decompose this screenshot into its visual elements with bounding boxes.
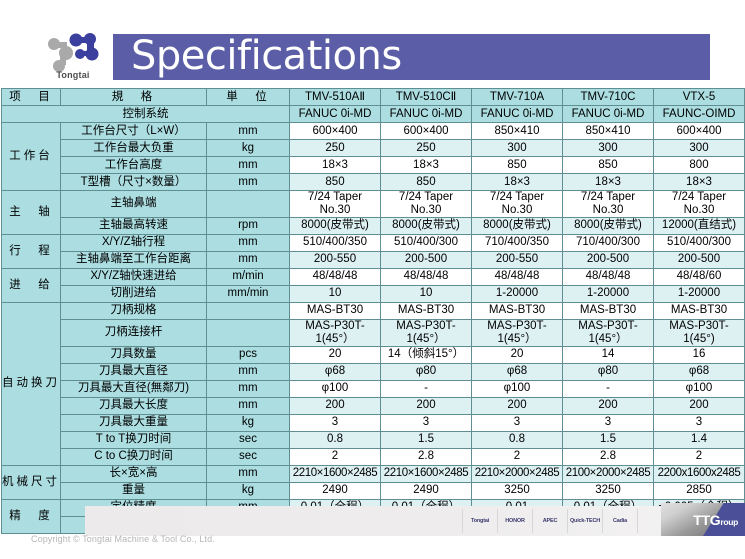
- specifications-table: 项 目規 格単 位TMV-510AⅡTMV-510CⅡTMV-710ATMV-7…: [1, 88, 745, 534]
- data-cell: 3250: [563, 482, 654, 499]
- data-cell: 200: [290, 397, 381, 414]
- row-unit: m/min: [207, 268, 290, 285]
- data-cell: 0.8: [472, 431, 563, 448]
- row-unit: kg: [207, 414, 290, 431]
- data-cell: 1-20000: [654, 285, 745, 302]
- table-row: 切削进给mm/min10101-200001-200001-20000: [2, 285, 745, 302]
- data-cell: MAS-P30T-1(45°）: [563, 319, 654, 346]
- data-cell: 1.4: [654, 431, 745, 448]
- data-cell: 8000(皮带式): [563, 217, 654, 234]
- control-system-value: FANUC 0i-MD: [290, 106, 381, 123]
- data-cell: 14: [563, 346, 654, 363]
- row-item-label: 刀具最大直径: [61, 363, 207, 380]
- data-cell: 300: [654, 140, 745, 157]
- data-cell: 2210×1600×2485: [381, 465, 472, 482]
- title-banner: Specifications: [113, 34, 710, 80]
- table-row: 行 程X/Y/Z轴行程mm510/400/350510/400/300710/4…: [2, 234, 745, 251]
- table-row: 主轴最高转速rpm8000(皮带式)8000(皮带式)8000(皮带式)8000…: [2, 217, 745, 234]
- header-cell-unit: 単 位: [207, 89, 290, 106]
- brand-logo-strip: TongtaiHONORAPECQuick-TECHCadia: [462, 509, 638, 533]
- footer-bar: [85, 506, 745, 536]
- data-cell: 20: [290, 346, 381, 363]
- control-system-row: 控制系统FANUC 0i-MDFANUC 0i-MDFANUC 0i-MDFAN…: [2, 106, 745, 123]
- table-row: 工作台最大负重kg250250300300300: [2, 140, 745, 157]
- data-cell: 600×400: [290, 123, 381, 140]
- data-cell: MAS-BT30: [472, 302, 563, 319]
- table-row: 刀具最大重量kg33333: [2, 414, 745, 431]
- data-cell: 850: [563, 157, 654, 174]
- row-unit: [207, 319, 290, 346]
- data-cell: 2850: [654, 482, 745, 499]
- row-item-label: 重量: [61, 482, 207, 499]
- row-unit: kg: [207, 140, 290, 157]
- brand-logo-honor: HONOR: [498, 509, 533, 533]
- data-cell: 20: [472, 346, 563, 363]
- data-cell: MAS-P30T-1(45°）: [381, 319, 472, 346]
- brand-logo-text: HONOR: [505, 518, 524, 524]
- brand-logo-quicktech: Quick-TECH: [568, 509, 603, 533]
- data-cell: 510/400/300: [381, 234, 472, 251]
- header-cell-model: TMV-710C: [563, 89, 654, 106]
- row-item-label: 刀具最大直径(無鄰刀): [61, 380, 207, 397]
- data-cell: 2490: [381, 482, 472, 499]
- data-cell: 250: [381, 140, 472, 157]
- row-unit: sec: [207, 448, 290, 465]
- data-cell: 200: [654, 397, 745, 414]
- data-cell: φ100: [472, 380, 563, 397]
- row-item-label: 刀具数量: [61, 346, 207, 363]
- data-cell: 300: [563, 140, 654, 157]
- data-cell: 8000(皮带式): [381, 217, 472, 234]
- brand-logo-text: Cadia: [613, 518, 627, 524]
- ttgroup-main: TTG: [693, 512, 720, 528]
- data-cell: 1.5: [563, 431, 654, 448]
- data-cell: 850: [381, 174, 472, 191]
- brand-logo-apec: APEC: [533, 509, 568, 533]
- ttgroup-label: TTGroup: [693, 512, 738, 528]
- table-row: 工作台高度mm18×318×3850850800: [2, 157, 745, 174]
- data-cell: MAS-P30T-1(45°）: [290, 319, 381, 346]
- tongtai-logo: Tongtai: [36, 30, 110, 86]
- table-row: 机械尺寸长×宽×高mm2210×1600×24852210×1600×24852…: [2, 465, 745, 482]
- data-cell: 7/24 TaperNo.30: [563, 191, 654, 218]
- data-cell: 18×3: [290, 157, 381, 174]
- header-cell-model: TMV-510AⅡ: [290, 89, 381, 106]
- data-cell: 2: [654, 448, 745, 465]
- data-cell: φ100: [654, 380, 745, 397]
- control-system-value: FANUC 0i-MD: [472, 106, 563, 123]
- data-cell: φ68: [654, 363, 745, 380]
- tongtai-molecule-icon: [36, 30, 110, 74]
- control-system-label: 控制系统: [2, 106, 290, 123]
- data-cell: 2: [472, 448, 563, 465]
- data-cell: 7/24 TaperNo.30: [381, 191, 472, 218]
- data-cell: MAS-BT30: [654, 302, 745, 319]
- data-cell: 850×410: [563, 123, 654, 140]
- data-cell: 2.8: [381, 448, 472, 465]
- data-cell: 3: [654, 414, 745, 431]
- table-row: 进 给X/Y/Z轴快速进给m/min48/48/4848/48/4848/48/…: [2, 268, 745, 285]
- row-unit: sec: [207, 431, 290, 448]
- row-item-label: 刀柄连接杆: [61, 319, 207, 346]
- brand-logo-text: Quick-TECH: [570, 518, 600, 524]
- data-cell: 710/400/350: [472, 234, 563, 251]
- data-cell: 1-20000: [472, 285, 563, 302]
- row-item-label: 工作台尺寸（L×W）: [61, 123, 207, 140]
- data-cell: 200-550: [290, 251, 381, 268]
- table-row: 自动换刀刀柄规格MAS-BT30MAS-BT30MAS-BT30MAS-BT30…: [2, 302, 745, 319]
- brand-logo-tongtai: Tongtai: [462, 509, 498, 533]
- data-cell: 2210×1600×2485: [290, 465, 381, 482]
- data-cell: 2490: [290, 482, 381, 499]
- row-unit: mm: [207, 363, 290, 380]
- row-item-label: 主轴鼻端至工作台距离: [61, 251, 207, 268]
- data-cell: 850: [290, 174, 381, 191]
- header-cell-spec: 規 格: [61, 89, 207, 106]
- data-cell: 16: [654, 346, 745, 363]
- row-item-label: 主轴鼻端: [61, 191, 207, 218]
- data-cell: 250: [290, 140, 381, 157]
- row-item-label: 工作台最大负重: [61, 140, 207, 157]
- data-cell: 200: [563, 397, 654, 414]
- data-cell: 2.8: [563, 448, 654, 465]
- group-label: 主 轴: [2, 191, 61, 235]
- data-cell: 2100×2000×2485: [563, 465, 654, 482]
- data-cell: 200-500: [654, 251, 745, 268]
- data-cell: 48/48/48: [290, 268, 381, 285]
- header-cell-model: TMV-510CⅡ: [381, 89, 472, 106]
- data-cell: 10: [290, 285, 381, 302]
- ttgroup-suffix: roup: [720, 517, 738, 527]
- data-cell: 510/400/350: [290, 234, 381, 251]
- table-row: 主 轴主轴鼻端7/24 TaperNo.307/24 TaperNo.307/2…: [2, 191, 745, 218]
- data-cell: -: [381, 380, 472, 397]
- data-cell: 0.8: [290, 431, 381, 448]
- data-cell: 2210×2000×2485: [472, 465, 563, 482]
- data-cell: 1-20000: [563, 285, 654, 302]
- group-label: 行 程: [2, 234, 61, 268]
- data-cell: 7/24 TaperNo.30: [472, 191, 563, 218]
- data-cell: 850×410: [472, 123, 563, 140]
- data-cell: 800: [654, 157, 745, 174]
- row-unit: mm: [207, 397, 290, 414]
- row-unit: mm: [207, 234, 290, 251]
- group-label: 机械尺寸: [2, 465, 61, 499]
- table-row: T to T换刀时间sec0.81.50.81.51.4: [2, 431, 745, 448]
- row-item-label: X/Y/Z轴快速进给: [61, 268, 207, 285]
- data-cell: 200: [472, 397, 563, 414]
- data-cell: 510/400/300: [654, 234, 745, 251]
- group-label: 自动换刀: [2, 302, 61, 465]
- page-title: Specifications: [131, 33, 402, 79]
- data-cell: 8000(皮带式): [472, 217, 563, 234]
- row-item-label: 切削进给: [61, 285, 207, 302]
- data-cell: 850: [472, 157, 563, 174]
- table-body: 项 目規 格単 位TMV-510AⅡTMV-510CⅡTMV-710ATMV-7…: [2, 89, 745, 534]
- data-cell: 2200x1600x2485: [654, 465, 745, 482]
- data-cell: MAS-P30T-1(45°）: [472, 319, 563, 346]
- data-cell: 200-500: [381, 251, 472, 268]
- data-cell: MAS-P30T-1(45°): [654, 319, 745, 346]
- data-cell: 18×3: [472, 174, 563, 191]
- row-item-label: 主轴最高转速: [61, 217, 207, 234]
- data-cell: MAS-BT30: [290, 302, 381, 319]
- brand-logo-text: Tongtai: [471, 518, 489, 524]
- row-item-label: 刀具最大长度: [61, 397, 207, 414]
- table-row: 主轴鼻端至工作台距离mm200-550200-500200-550200-500…: [2, 251, 745, 268]
- data-cell: 3: [472, 414, 563, 431]
- data-cell: 18×3: [654, 174, 745, 191]
- data-cell: 48/48/48: [381, 268, 472, 285]
- group-label: 进 给: [2, 268, 61, 302]
- data-cell: φ80: [381, 363, 472, 380]
- row-unit: [207, 302, 290, 319]
- row-unit: pcs: [207, 346, 290, 363]
- copyright-text: Copyright © Tongtai Machine & Tool Co., …: [31, 534, 215, 544]
- row-unit: rpm: [207, 217, 290, 234]
- data-cell: 3: [381, 414, 472, 431]
- table-row: 刀柄连接杆MAS-P30T-1(45°）MAS-P30T-1(45°）MAS-P…: [2, 319, 745, 346]
- table-row: 刀具最大直径mmφ68φ80φ68φ80φ68: [2, 363, 745, 380]
- data-cell: φ80: [563, 363, 654, 380]
- table-row: 刀具最大直径(無鄰刀)mmφ100-φ100-φ100: [2, 380, 745, 397]
- row-item-label: 长×宽×高: [61, 465, 207, 482]
- data-cell: φ68: [290, 363, 381, 380]
- data-cell: 300: [472, 140, 563, 157]
- table-row: T型槽（尺寸×数量）mm85085018×318×318×3: [2, 174, 745, 191]
- data-cell: 18×3: [563, 174, 654, 191]
- ttgroup-logo: TTGroup: [661, 503, 745, 536]
- row-item-label: 工作台高度: [61, 157, 207, 174]
- row-unit: [207, 191, 290, 218]
- row-unit: mm: [207, 174, 290, 191]
- data-cell: 48/48/48: [472, 268, 563, 285]
- data-cell: 3: [290, 414, 381, 431]
- table-row: C to C换刀时间sec22.822.82: [2, 448, 745, 465]
- data-cell: 18×3: [381, 157, 472, 174]
- brand-logo-text: APEC: [543, 518, 557, 524]
- group-label: 工作台: [2, 123, 61, 191]
- control-system-value: FANUC 0i-MD: [381, 106, 472, 123]
- data-cell: 3250: [472, 482, 563, 499]
- header-cell-model: TMV-710A: [472, 89, 563, 106]
- data-cell: 8000(皮带式): [290, 217, 381, 234]
- row-unit: mm: [207, 380, 290, 397]
- data-cell: 14（倾斜15°）: [381, 346, 472, 363]
- tongtai-logo-text: Tongtai: [36, 70, 110, 80]
- data-cell: MAS-BT30: [563, 302, 654, 319]
- header-cell-item: 项 目: [2, 89, 61, 106]
- row-item-label: 刀具最大重量: [61, 414, 207, 431]
- data-cell: 3: [563, 414, 654, 431]
- data-cell: φ68: [472, 363, 563, 380]
- row-unit: mm: [207, 123, 290, 140]
- row-item-label: T型槽（尺寸×数量）: [61, 174, 207, 191]
- data-cell: 48/48/48: [563, 268, 654, 285]
- table-row: 刀具最大长度mm200200200200200: [2, 397, 745, 414]
- brand-logo-cadia: Cadia: [603, 509, 638, 533]
- data-cell: MAS-BT30: [381, 302, 472, 319]
- row-item-label: T to T换刀时间: [61, 431, 207, 448]
- data-cell: -: [563, 380, 654, 397]
- header-cell-model: VTX-5: [654, 89, 745, 106]
- data-cell: 2: [290, 448, 381, 465]
- table-row: 重量kg24902490325032502850: [2, 482, 745, 499]
- data-cell: 10: [381, 285, 472, 302]
- row-unit: mm/min: [207, 285, 290, 302]
- data-cell: 12000(直结式): [654, 217, 745, 234]
- data-cell: 200-500: [563, 251, 654, 268]
- row-unit: mm: [207, 251, 290, 268]
- group-label: 精 度: [2, 499, 61, 533]
- table-header-row: 项 目規 格単 位TMV-510AⅡTMV-510CⅡTMV-710ATMV-7…: [2, 89, 745, 106]
- control-system-value: FAUNC-OIMD: [654, 106, 745, 123]
- row-item-label: X/Y/Z轴行程: [61, 234, 207, 251]
- data-cell: 200: [381, 397, 472, 414]
- table-row: 刀具数量pcs2014（倾斜15°）201416: [2, 346, 745, 363]
- data-cell: 600×400: [381, 123, 472, 140]
- control-system-value: FANUC 0i-MD: [563, 106, 654, 123]
- row-unit: kg: [207, 482, 290, 499]
- row-unit: mm: [207, 157, 290, 174]
- data-cell: 7/24 TaperNo.30: [290, 191, 381, 218]
- data-cell: 200-550: [472, 251, 563, 268]
- data-cell: φ100: [290, 380, 381, 397]
- data-cell: 48/48/60: [654, 268, 745, 285]
- row-item-label: 刀柄规格: [61, 302, 207, 319]
- data-cell: 7/24 TaperNo.30: [654, 191, 745, 218]
- data-cell: 710/400/300: [563, 234, 654, 251]
- row-unit: mm: [207, 465, 290, 482]
- data-cell: 1.5: [381, 431, 472, 448]
- page-header: Tongtai Specifications: [0, 0, 745, 88]
- row-item-label: C to C换刀时间: [61, 448, 207, 465]
- data-cell: 600×400: [654, 123, 745, 140]
- table-row: 工作台工作台尺寸（L×W）mm600×400600×400850×410850×…: [2, 123, 745, 140]
